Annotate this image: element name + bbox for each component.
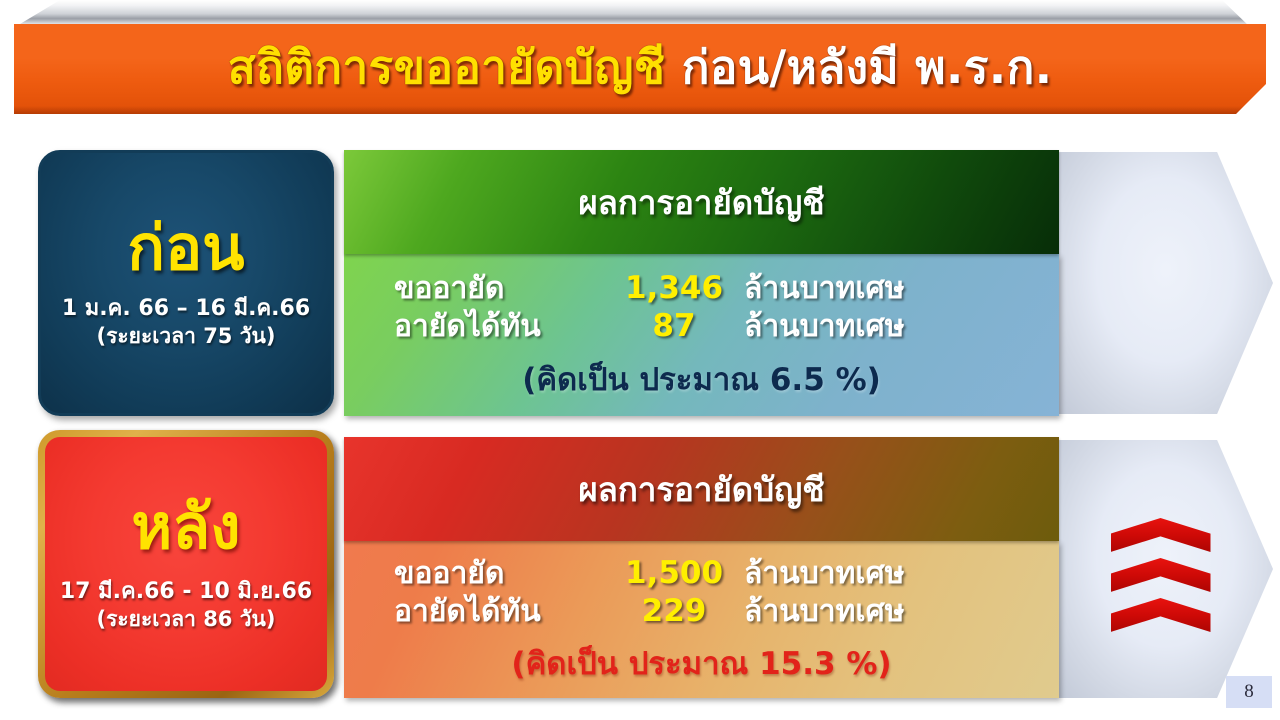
chevron-up-icon — [1111, 558, 1211, 592]
result-heading-before: ผลการอายัดบัญชี — [578, 176, 824, 229]
result-panel-before-body: ขออายัด 1,346 ล้านบาทเศษ อายัดได้ทัน 87 … — [344, 254, 1059, 416]
stat-value: 229 — [604, 593, 744, 631]
stat-label: อายัดได้ทัน — [394, 309, 604, 346]
arrow-shape-top — [1058, 152, 1273, 414]
period-daterange-before: 1 ม.ค. 66 – 16 มี.ค.66 — [62, 294, 310, 323]
period-label-before: ก่อน 1 ม.ค. 66 – 16 มี.ค.66 (ระยะเวลา 75… — [38, 150, 334, 416]
period-duration-after: (ระยะเวลา 86 วัน) — [97, 606, 276, 634]
stat-row: ขออายัด 1,346 ล้านบาทเศษ — [394, 270, 1009, 308]
stat-label: ขออายัด — [394, 556, 604, 593]
page-title: สถิติการขออายัดบัญชี ก่อน/หลังมี พ.ร.ก. — [228, 44, 1053, 90]
stat-label: ขออายัด — [394, 271, 604, 308]
stat-unit: ล้านบาทเศษ — [744, 594, 1009, 631]
stat-unit: ล้านบาทเศษ — [744, 309, 1009, 346]
stat-unit: ล้านบาทเศษ — [744, 556, 1009, 593]
stat-row: อายัดได้ทัน 229 ล้านบาทเศษ — [394, 593, 1009, 631]
period-word-after: หลัง — [131, 494, 240, 559]
stat-value: 87 — [604, 308, 744, 346]
result-heading-after: ผลการอายัดบัญชี — [578, 463, 824, 516]
stat-row: อายัดได้ทัน 87 ล้านบาทเศษ — [394, 308, 1009, 346]
stat-row: ขออายัด 1,500 ล้านบาทเศษ — [394, 555, 1009, 593]
period-duration-before: (ระยะเวลา 75 วัน) — [97, 323, 276, 351]
stat-value: 1,346 — [604, 270, 744, 308]
result-panel-after-header: ผลการอายัดบัญชี — [344, 437, 1059, 541]
result-panel-after: ผลการอายัดบัญชี ขออายัด 1,500 ล้านบาทเศษ… — [344, 437, 1059, 698]
page-title-rest: ก่อน/หลังมี พ.ร.ก. — [665, 40, 1052, 94]
page-number: 8 — [1226, 676, 1272, 708]
stat-value: 1,500 — [604, 555, 744, 593]
stat-unit: ล้านบาทเศษ — [744, 271, 1009, 308]
period-word-before: ก่อน — [127, 215, 244, 280]
result-panel-after-body: ขออายัด 1,500 ล้านบาทเศษ อายัดได้ทัน 229… — [344, 541, 1059, 698]
stat-percentage-note-before: (คิดเป็น ประมาณ 6.5 %) — [522, 354, 881, 404]
chevron-up-icon — [1111, 598, 1211, 632]
period-daterange-after: 17 มี.ค.66 - 10 มิ.ย.66 — [60, 577, 312, 606]
period-label-after: หลัง 17 มี.ค.66 - 10 มิ.ย.66 (ระยะเวลา 8… — [38, 430, 334, 698]
up-chevrons-icon — [1108, 518, 1213, 638]
page-title-highlight: สถิติการขออายัดบัญชี — [228, 40, 666, 94]
title-banner: สถิติการขออายัดบัญชี ก่อน/หลังมี พ.ร.ก. — [14, 24, 1266, 114]
result-panel-before-header: ผลการอายัดบัญชี — [344, 150, 1059, 254]
chevron-up-icon — [1111, 518, 1211, 552]
result-panel-before: ผลการอายัดบัญชี ขออายัด 1,346 ล้านบาทเศษ… — [344, 150, 1059, 416]
stat-label: อายัดได้ทัน — [394, 594, 604, 631]
stat-percentage-note-after: (คิดเป็น ประมาณ 15.3 %) — [511, 638, 891, 688]
